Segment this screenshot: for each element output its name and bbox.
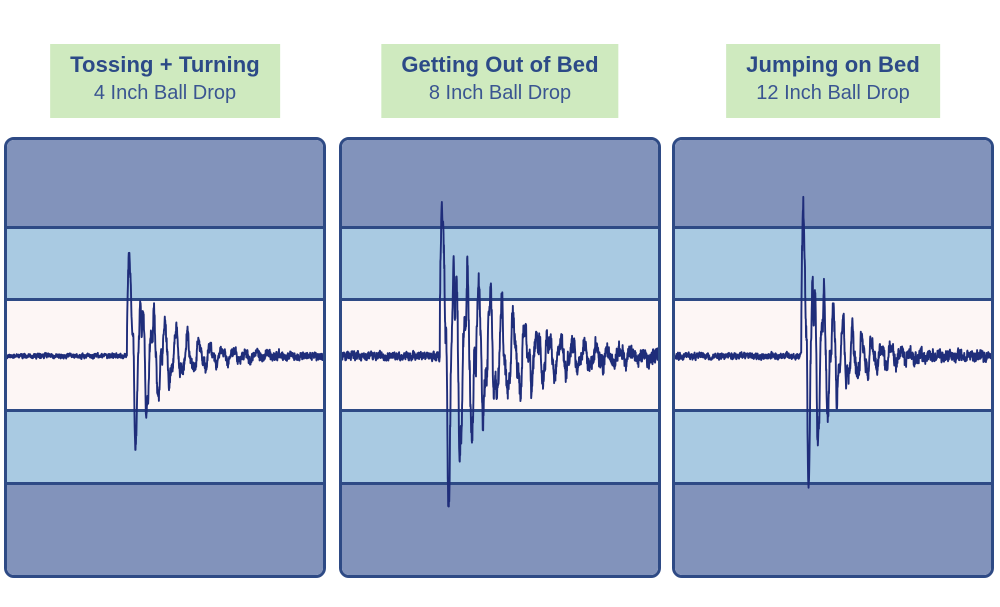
panel-label-1: Getting Out of Bed 8 Inch Ball Drop (381, 44, 618, 118)
panel-label-2: Jumping on Bed 12 Inch Ball Drop (726, 44, 940, 118)
panel-subtitle-2: 12 Inch Ball Drop (746, 80, 920, 106)
panel-subtitle-1: 8 Inch Ball Drop (401, 80, 598, 106)
seismograph-trace-4-inch (7, 140, 323, 575)
seismograph-panel-1 (339, 137, 661, 578)
panel-title-1: Getting Out of Bed (401, 52, 598, 79)
panel-group-0: Tossing + Turning 4 Inch Ball Drop (0, 0, 330, 607)
seismograph-panel-2 (672, 137, 994, 578)
panel-title-0: Tossing + Turning (70, 52, 260, 79)
seismograph-trace-8-inch (342, 140, 658, 575)
seismograph-trace-12-inch (675, 140, 991, 575)
seismograph-panel-0 (4, 137, 326, 578)
panel-title-2: Jumping on Bed (746, 52, 920, 79)
panel-subtitle-0: 4 Inch Ball Drop (70, 80, 260, 106)
panel-label-0: Tossing + Turning 4 Inch Ball Drop (50, 44, 280, 118)
panel-group-1: Getting Out of Bed 8 Inch Ball Drop (335, 0, 665, 607)
seismograph-comparison: Tossing + Turning 4 Inch Ball Drop Getti… (0, 0, 1000, 607)
panel-group-2: Jumping on Bed 12 Inch Ball Drop (668, 0, 998, 607)
